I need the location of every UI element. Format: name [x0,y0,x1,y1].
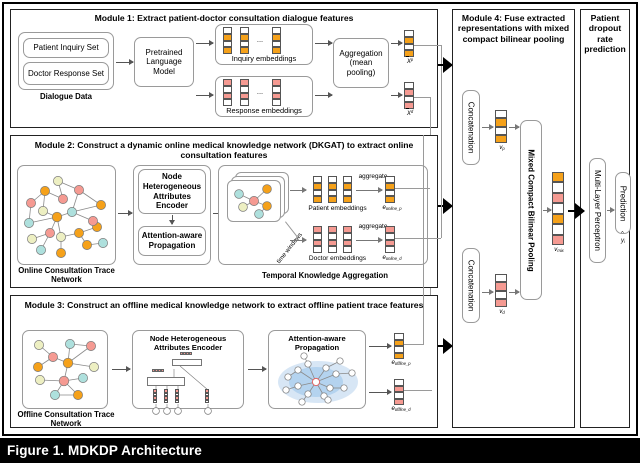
concatenation-bottom-label: Concatenation [467,260,476,312]
offline-consultation-network-label: Offline Consultation Trace Network [16,410,116,429]
v-p-label: vp [491,145,513,152]
e-online-d-label: eonline_d [372,255,412,262]
module-2-attention-propagation[interactable]: Attention-aware Propagation [138,226,206,256]
v-mix-vector [552,172,564,245]
v-d-vector [495,274,507,307]
prediction-box[interactable]: Prediction [615,172,631,234]
offline-trace-network-graph [22,330,108,409]
module-2-node-attributes-encoder[interactable]: Node Heterogeneous Attributes Encoder [138,169,206,214]
online-consultation-network-label: Online Consultation Trace Network [14,266,119,285]
inquiry-embeddings-ellipsis: ... [253,36,267,45]
mlp-label: Multi-Layer Perceptron [593,170,602,251]
patient-embedding-col-3 [343,176,352,203]
arrow-dialogue-to-plm [116,62,133,63]
arrow-vp-to-mcbp [509,127,519,128]
route-eoffp-v [423,135,424,345]
doctor-response-set-box[interactable]: Doctor Response Set [23,62,109,85]
route-eonp-h [395,188,430,189]
route-xp-v [441,45,442,146]
module-3-title: Module 3: Construct an offline medical k… [24,300,424,310]
inquiry-embedding-col-2 [240,27,249,54]
arrow-encoder-to-propagation [172,215,173,224]
concatenation-top-box[interactable]: Concatenation [462,90,480,165]
pretrained-language-model-box[interactable]: Pretrained Language Model [134,37,194,87]
arrow-encoder-to-propagation-m3 [248,369,266,370]
arrow-plm-to-response [196,95,213,96]
arrow-aggregate-doctor [356,240,382,241]
doctor-embedding-col-3 [343,226,352,253]
inquiry-embedding-col-1 [223,27,232,54]
arrow-plm-to-inquiry [196,43,213,44]
v-p-vector [495,110,507,143]
multi-layer-perceptron-box[interactable]: Multi-Layer Perceptron [589,158,606,263]
arrow-inquiry-to-aggregation [315,43,332,44]
response-embeddings-label: Response embeddings [215,107,313,116]
v-mix-label: vmix [546,247,572,254]
response-embedding-col-1 [223,79,232,106]
arrow-online-net-to-encoder [118,213,132,214]
patient-embeddings-label: Patient embeddings [305,205,370,212]
arrow-aggregation-to-xp [391,43,402,44]
y-hat-label: yi [612,238,634,245]
encoder-leaf-vector-4 [205,389,209,403]
arrow-aggregation-to-xd [391,95,402,96]
patient-embedding-col-2 [328,176,337,203]
e-online-p-vector [385,176,395,203]
arrow-temporal-to-patient-emb [290,190,306,191]
module-4-title: Module 4: Fuse extracted representations… [456,13,571,44]
e-offline-d-label: eoffline_d [381,406,421,413]
e-offline-p-label: eoffline_p [381,360,421,367]
route-eoffp-h [404,344,424,345]
temporal-knowledge-aggregation-label: Temporal Knowledge Aggregation [240,271,410,280]
route-xd-h [414,97,431,98]
doctor-embedding-col-2 [328,226,337,253]
v-d-label: vd [491,309,513,316]
response-embedding-col-3 [272,79,281,106]
prediction-label: Prediction [619,185,628,221]
mixed-compact-bilinear-pooling-box[interactable]: Mixed Compact Bilinear Pooling [520,120,542,300]
doctor-embedding-col-1 [313,226,322,253]
arrow-propagation-to-eoffd [369,392,391,393]
module-2-title: Module 2: Construct a dynamic online med… [20,140,428,161]
arrow-module3-to-module4 [438,345,452,347]
response-embedding-col-2 [240,79,249,106]
arrow-module1-to-module4 [438,64,452,66]
encoder-leaf-vector-1 [153,389,157,403]
x-bar-d-vector [404,82,414,109]
arrow-mcbp-to-vmix [543,210,551,211]
arrow-offline-net-to-encoder [112,369,130,370]
e-offline-p-vector [394,333,404,359]
arrow-vd-to-mcbp [509,292,519,293]
time-window-graph [227,180,281,222]
encoder-leaf-vector-3 [175,389,179,403]
e-online-p-label: eonline_p [372,205,412,212]
doctor-embeddings-label: Doctor embeddings [305,255,370,262]
dialogue-data-label: Dialogue Data [14,92,118,101]
arrow-temporal-to-doctor-emb [290,240,306,241]
arrow-aggregate-patient [356,190,382,191]
x-bar-p-vector [404,30,414,57]
arrow-response-to-aggregation [315,95,332,96]
encoder-connector-lines [132,330,244,409]
response-embeddings-ellipsis: ... [253,88,267,97]
inquiry-embeddings-label: Inquiry embeddings [215,55,313,64]
route-eond-v [441,146,442,238]
encoder-leaf-vector-2 [164,389,168,403]
arrow-module4-to-prediction [568,210,584,212]
route-xp-h [414,45,442,46]
aggregation-box[interactable]: Aggregation (mean pooling) [333,38,389,88]
concatenation-top-label: Concatenation [467,102,476,154]
arrow-mlp-to-prediction [607,210,614,211]
mcbp-label: Mixed Compact Bilinear Pooling [527,149,536,271]
x-bar-p-label: Xp [399,58,421,66]
online-trace-network-graph [17,165,116,265]
e-offline-d-vector [394,379,404,405]
route-eoffd-h [404,390,432,391]
figure-root: Module 1: Extract patient-doctor consult… [0,0,640,463]
arrow-propagation-to-eoffp [369,346,391,347]
arrow-concat-top-to-vp [482,127,493,128]
prediction-panel-title: Patient dropout rate prediction [583,13,627,55]
x-bar-d-label: Xd [399,110,421,118]
arrow-concat-bottom-to-vd [482,292,493,293]
patient-inquiry-set-box[interactable]: Patient Inquiry Set [23,38,109,58]
patient-embedding-col-1 [313,176,322,203]
route-eond-h [395,238,441,239]
e-online-d-vector [385,226,395,253]
figure-caption: Figure 1. MDKDP Architecture [0,438,640,463]
attention-propagation-graph [268,330,366,409]
inquiry-embedding-col-3 [272,27,281,54]
module-1-title: Module 1: Extract patient-doctor consult… [22,13,426,23]
concatenation-bottom-box[interactable]: Concatenation [462,248,480,323]
